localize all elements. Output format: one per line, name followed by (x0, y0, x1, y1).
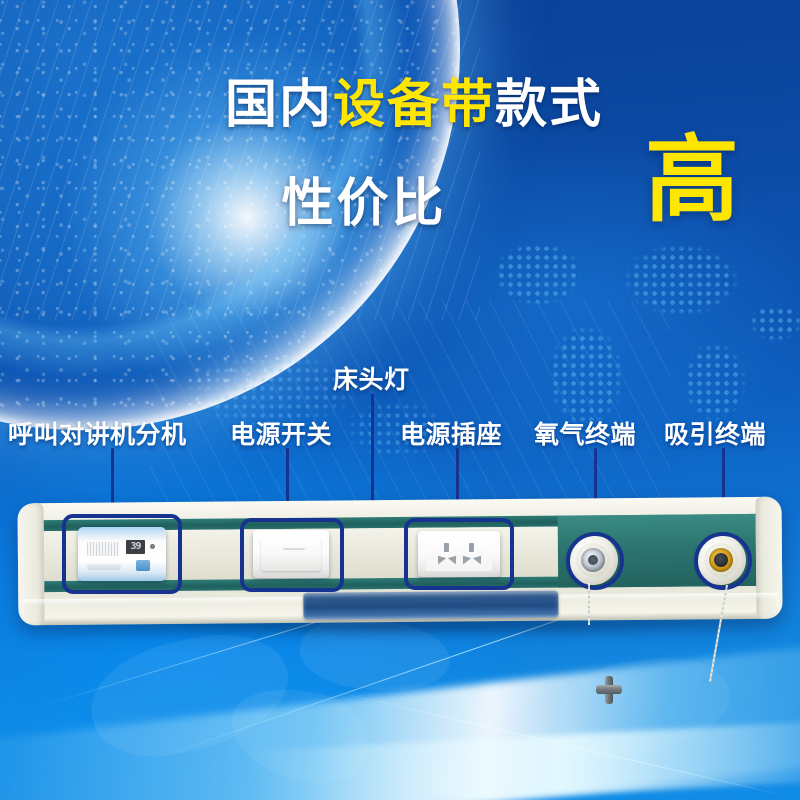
pull-cord-weight-handle[interactable] (596, 676, 622, 704)
highlight-box-power-switch (240, 518, 344, 592)
callout-power-socket-label: 电源插座 (400, 415, 502, 451)
highlight-circle-suction (694, 532, 752, 590)
callout-nurse-intercom-label: 呼叫对讲机分机 (8, 415, 187, 451)
callout-oxygen-label: 氧气终端 (534, 415, 636, 451)
oxygen-pull-cord[interactable] (588, 583, 590, 625)
headline-value-phrase: 性价比 (281, 161, 446, 236)
world-map-halftone-left (150, 330, 450, 480)
highlight-box-intercom (62, 514, 182, 594)
headline-line1-part2: 款式 (495, 76, 603, 134)
headline-emphasis-char: 高 (645, 133, 739, 227)
highlight-circle-oxygen (566, 532, 624, 590)
callout-power-switch-label: 电源开关 (230, 415, 332, 451)
bed-lamp-strip[interactable] (303, 591, 558, 620)
headline-line1-accent: 设备带 (333, 76, 495, 134)
headline-line-1: 国内设备带款式 (0, 78, 800, 133)
poster-canvas: 国内设备带款式 性价比 高 呼叫对讲机分机 电源开关 床头灯 电源插座 氧气终端… (0, 0, 800, 800)
callout-bed-lamp-label: 床头灯 (333, 360, 410, 396)
highlight-box-power-socket (404, 518, 514, 590)
headline-line-2: 性价比 高 (0, 151, 800, 247)
headline-block: 国内设备带款式 性价比 高 (0, 78, 800, 247)
callout-suction-label: 吸引终端 (664, 415, 766, 451)
headline-line1-part1: 国内 (225, 76, 333, 134)
